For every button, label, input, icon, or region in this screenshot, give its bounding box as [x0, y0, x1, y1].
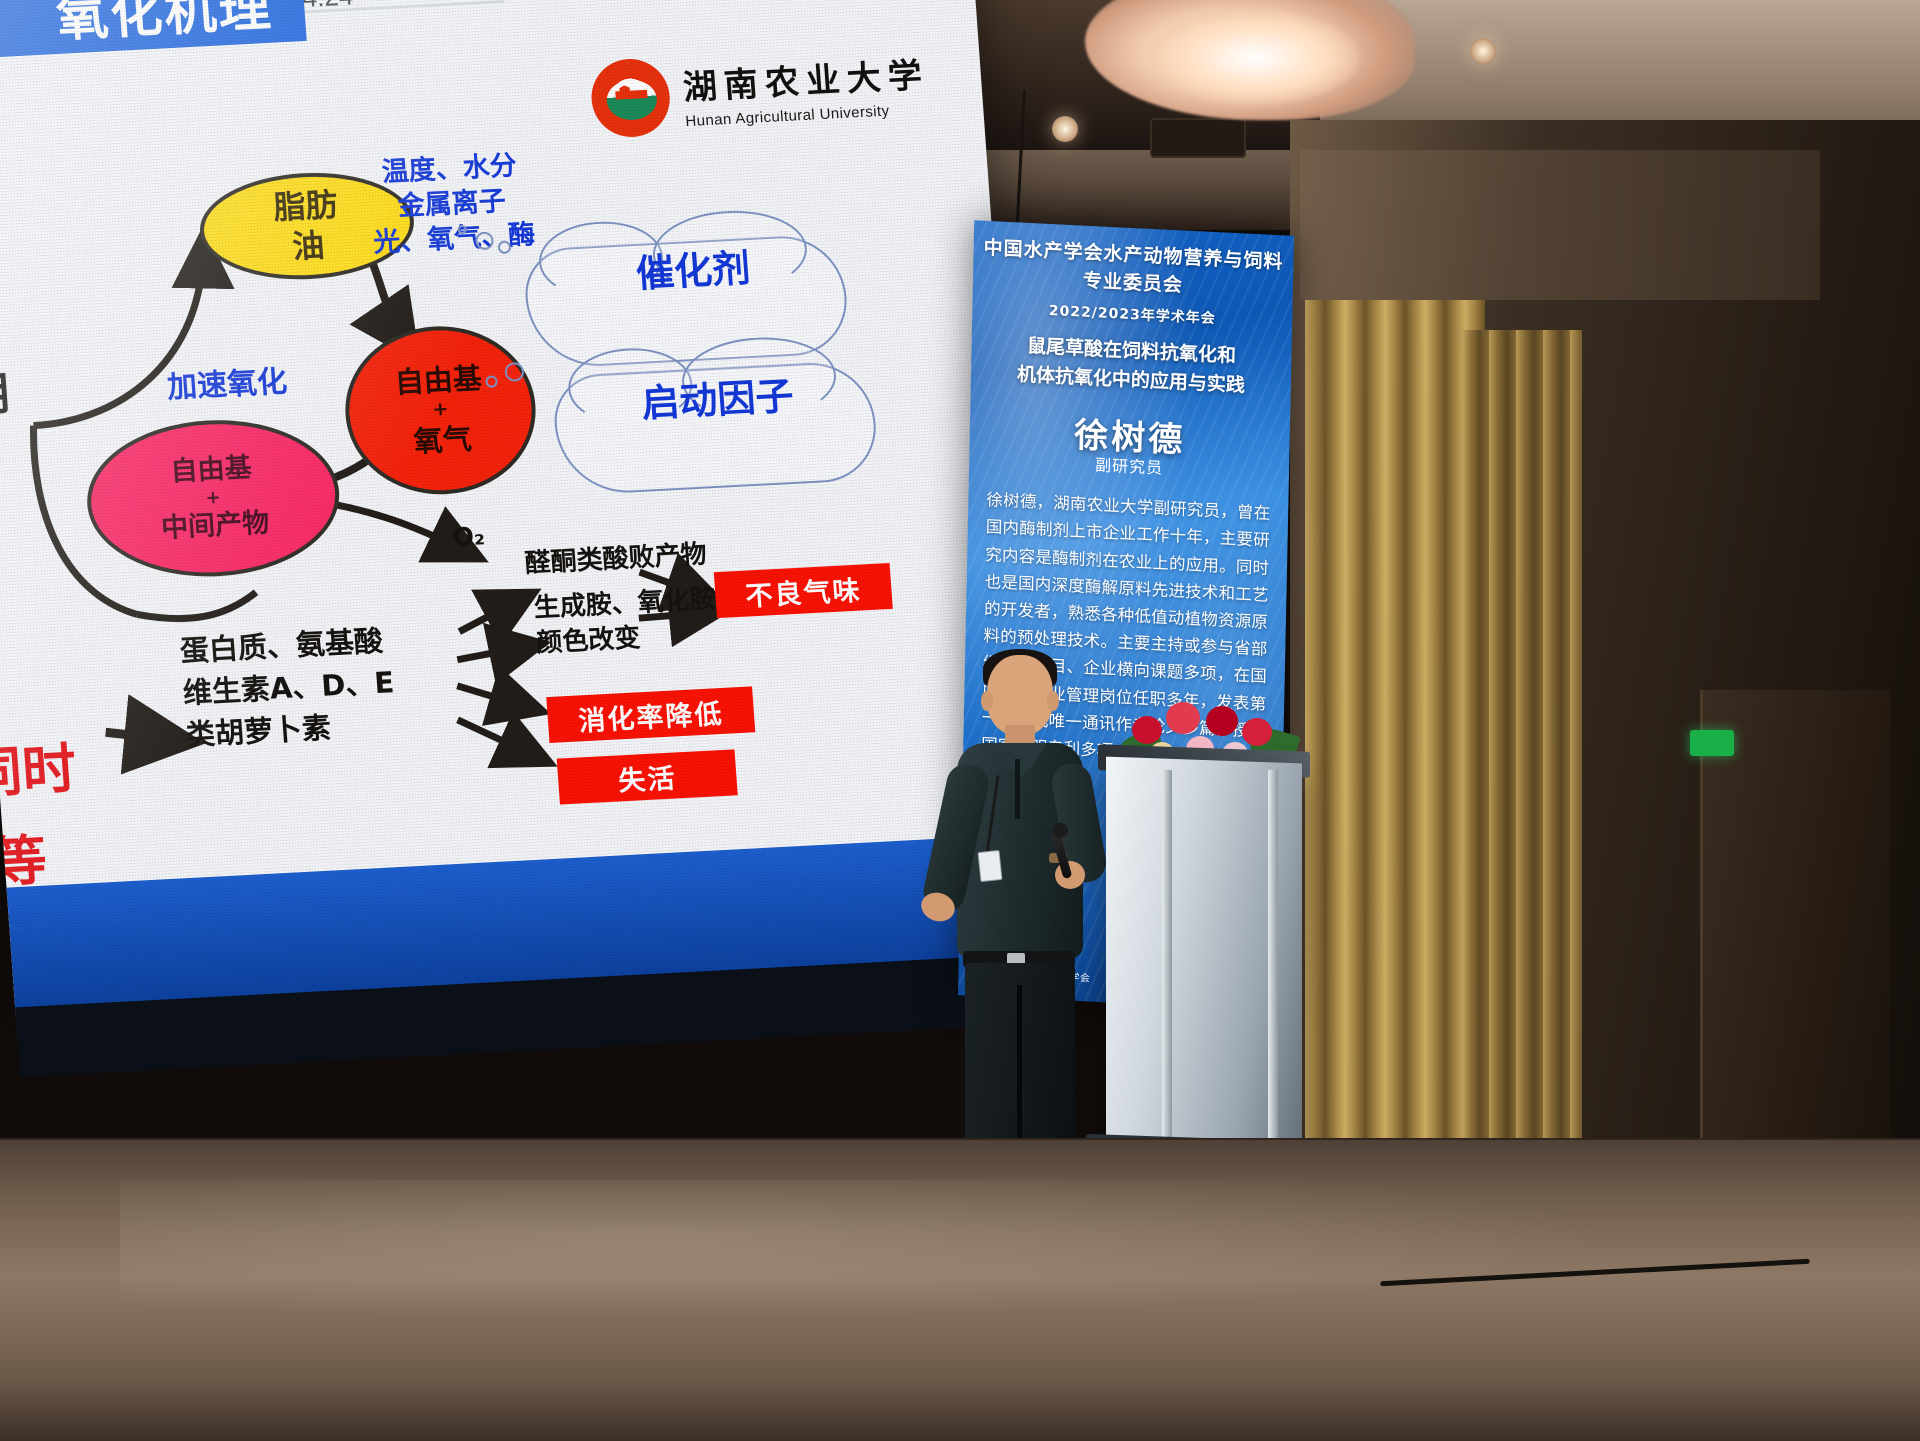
ceiling-vent-2 [1150, 118, 1246, 158]
node-radical-oxygen-plus: + [432, 398, 450, 423]
node-radical-intermediate-label-bottom: 中间产物 [160, 507, 270, 546]
label-substrates: 蛋白质、氨基酸 维生素A、D、E 类胡萝卜素 [179, 619, 399, 756]
redbox-inactivation-label: 失活 [617, 756, 678, 798]
redbox-bad-odour-label: 不良气味 [744, 568, 863, 613]
stage-curtain-left [1305, 300, 1485, 1200]
banner-organization: 中国水产学会水产动物营养与饲料 专业委员会 [973, 234, 1294, 305]
downlight-2 [1470, 38, 1496, 64]
node-fat-label-top: 脂肪 [272, 185, 339, 228]
presenter [935, 655, 1105, 1170]
side-door [1700, 690, 1890, 1160]
microphone-head-icon [1053, 823, 1068, 838]
cloud-initiator-text: 启动因子 [640, 372, 795, 429]
label-accelerate: 加速氧化 [166, 362, 289, 407]
node-fat-label-bottom: 油 [291, 225, 326, 267]
presenter-ear-right [1047, 691, 1059, 711]
podium-mullion-2 [1268, 770, 1278, 1150]
chandelier-core [1150, 10, 1360, 105]
node-radical-intermediate-plus: + [205, 487, 222, 510]
podium-mullion-1 [1162, 770, 1172, 1150]
stage-curtain-right [1462, 330, 1582, 1190]
conference-hall-scene: 预演 0:01:14 ↷ 0:04:24 氧化机理 湖南农业大学 Hunan A… [0, 0, 1920, 1441]
presenter-head [987, 655, 1053, 735]
label-amine-change: 生成胺、氧化胺 颜色改变 [533, 582, 720, 662]
presenter-leg-split [1017, 985, 1022, 1153]
exit-sign [1690, 730, 1734, 756]
presenter-ear-left [981, 691, 993, 711]
cloud-catalyst-text: 催化剂 [635, 244, 752, 299]
wall-panel-1 [1300, 150, 1820, 300]
label-conditions: 温度、水分 金属离子 光、氧气、酶 [367, 147, 536, 260]
redbox-bad-odour: 不良气味 [714, 563, 893, 618]
banner-topic: 鼠尾草酸在饲料抗氧化和 机体抗氧化中的应用与实践 [971, 329, 1292, 402]
downlight-3 [1052, 116, 1078, 142]
node-radical-oxygen-label-top: 自由基 [394, 360, 484, 401]
redbox-inactivation: 失活 [557, 749, 738, 804]
presenter-badge [977, 850, 1002, 882]
node-radical-oxygen-label-bottom: 氧气 [412, 421, 473, 460]
floor-reflection [120, 1180, 1620, 1320]
presenter-placket [1015, 759, 1020, 819]
projection-screen: 预演 0:01:14 ↷ 0:04:24 氧化机理 湖南农业大学 Hunan A… [0, 0, 1045, 1017]
redbox-digestibility-label: 消化率降低 [577, 691, 725, 737]
node-radical-intermediate-label-top: 自由基 [170, 451, 253, 489]
label-oxygen: O₂ [451, 520, 485, 554]
